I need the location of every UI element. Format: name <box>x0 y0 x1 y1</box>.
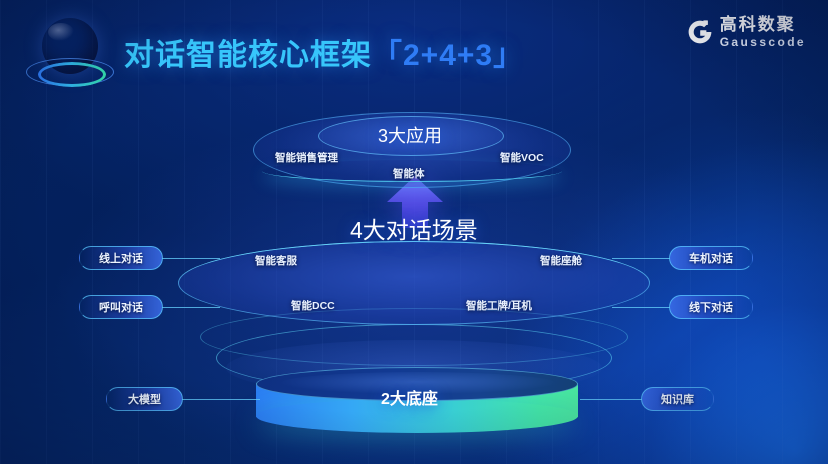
brand-logo-text: 高科数聚 Gausscode <box>720 16 806 48</box>
leader-line-left-1 <box>162 307 220 308</box>
leader-line-right-1 <box>612 307 670 308</box>
page-title-bracket-open: 「 <box>372 39 403 72</box>
pill-left-0[interactable]: 线上对话 <box>79 246 163 270</box>
pill-right-2[interactable]: 知识库 <box>641 387 714 411</box>
sphere-on-ring-icon <box>24 14 114 98</box>
leader-line-left-2 <box>182 399 260 400</box>
pill-left-2[interactable]: 大模型 <box>106 387 183 411</box>
scenario-label-2: 智能DCC <box>291 298 335 313</box>
scenarios-heading: 4大对话场景 <box>350 211 478 245</box>
foundations-heading: 2大底座 <box>381 385 438 409</box>
pill-right-0[interactable]: 车机对话 <box>669 246 753 270</box>
leader-line-left-0 <box>162 258 220 259</box>
applications-heading: 3大应用 <box>378 122 442 148</box>
page-title-code: 2+4+3 <box>403 39 493 72</box>
inner-glow-ring <box>38 62 106 87</box>
page-title: 对话智能核心框架「2+4+3」 <box>124 30 524 74</box>
gausscode-g-mark-icon <box>687 19 713 45</box>
application-label-0: 智能销售管理 <box>275 150 338 165</box>
agent-label: 智能体 <box>393 166 425 181</box>
brand-name-cn: 高科数聚 <box>720 16 806 33</box>
scenario-label-0: 智能客服 <box>255 253 297 268</box>
page-title-main: 对话智能核心框架 <box>124 39 372 72</box>
brand-logo: 高科数聚 Gausscode <box>687 16 806 48</box>
scenario-label-1: 智能座舱 <box>540 253 582 268</box>
page-title-bracket-close: 」 <box>493 39 524 72</box>
scenario-label-3: 智能工牌/耳机 <box>466 298 532 313</box>
pill-left-1[interactable]: 呼叫对话 <box>79 295 163 319</box>
pill-right-1[interactable]: 线下对话 <box>669 295 753 319</box>
brand-name-en: Gausscode <box>720 36 806 48</box>
leader-line-right-2 <box>580 399 642 400</box>
application-label-1: 智能VOC <box>500 150 544 165</box>
slide-canvas: 对话智能核心框架「2+4+3」 高科数聚 Gausscode <box>0 0 828 464</box>
leader-line-right-0 <box>612 258 670 259</box>
sphere-highlight <box>48 23 74 41</box>
